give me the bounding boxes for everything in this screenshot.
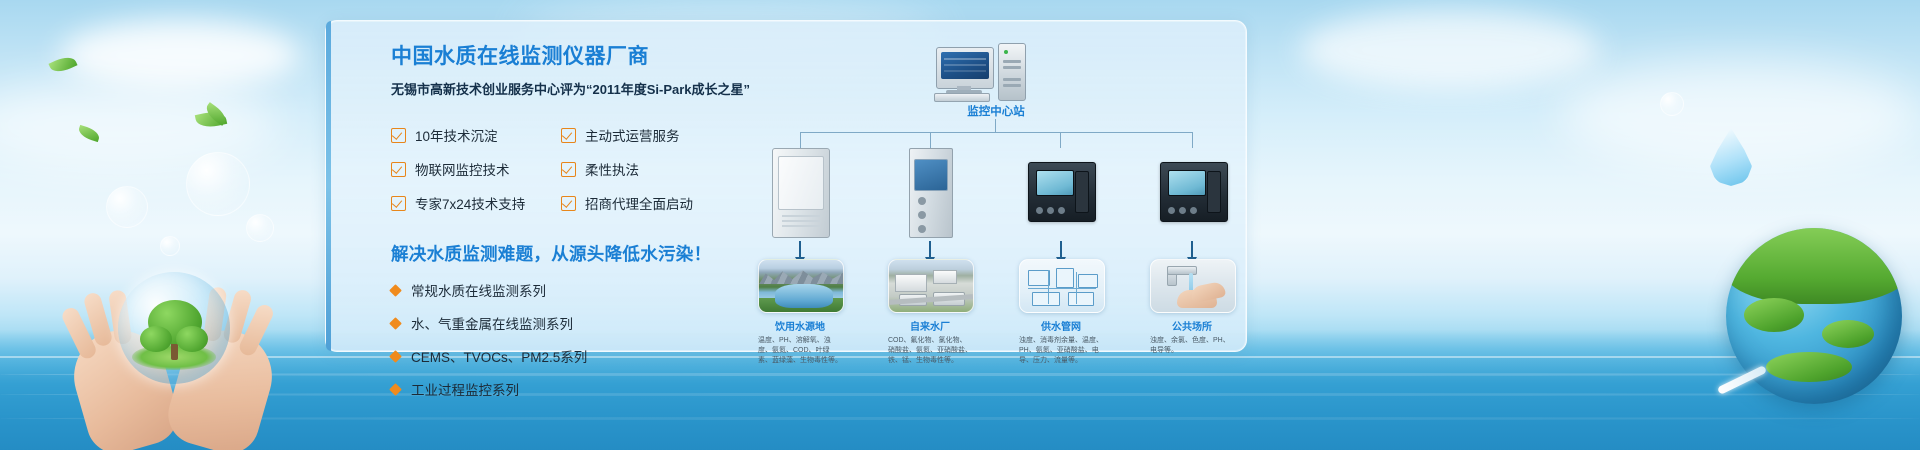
feature-label: 10年技术沉淀 bbox=[415, 125, 498, 145]
device-online-analyzer-1 bbox=[1028, 162, 1096, 222]
bubble-decor bbox=[106, 186, 148, 228]
feature-item[interactable]: 物联网监控技术 bbox=[391, 159, 561, 179]
bubble-decor bbox=[186, 152, 250, 216]
bubble-decor bbox=[246, 214, 274, 242]
scenario-photo-pipe-network bbox=[1019, 259, 1105, 313]
scenario-card[interactable]: 自来水厂 COD、氟化物、氯化物、硝酸盐、氨氮、亚硝酸盐、铁、锰、生物毒性等。 bbox=[888, 259, 972, 366]
scenario-card[interactable]: 饮用水源地 温度、PH、溶解氧、浊度、氨氮、COD、叶绿素、蓝绿藻、生物毒性等。 bbox=[758, 259, 842, 366]
checkbox-icon bbox=[561, 128, 576, 143]
connector-drop bbox=[930, 132, 931, 148]
scenario-title: 自来水厂 bbox=[888, 318, 972, 333]
bubble-decor bbox=[160, 236, 180, 256]
scenario-card[interactable]: 公共场所 浊度、余氯、色度、PH、电导等。 bbox=[1150, 259, 1234, 356]
feature-checklist: 10年技术沉淀 主动式运营服务 物联网监控技术 柔性执法 专家7x24技术支持 bbox=[391, 125, 761, 213]
page-subtitle: 无锡市高新技术创业服务中心评为“2011年度Si-Park成长之星” bbox=[391, 80, 761, 100]
bubble-decor bbox=[1660, 92, 1684, 116]
feature-label: 柔性执法 bbox=[585, 159, 639, 179]
connector-drop bbox=[1192, 132, 1193, 148]
section-headline: 解决水质监测难题，从源头降低水污染！ bbox=[391, 241, 761, 266]
wave-stripe bbox=[0, 417, 1920, 420]
scenario-title: 公共场所 bbox=[1150, 318, 1234, 333]
diamond-bullet-icon bbox=[389, 383, 402, 396]
scenario-title: 饮用水源地 bbox=[758, 318, 842, 333]
device-sampling-cabinet bbox=[909, 148, 953, 238]
series-label: 常规水质在线监测系列 bbox=[411, 280, 546, 300]
cloud-decor bbox=[0, 80, 280, 170]
device-online-analyzer-2 bbox=[1160, 162, 1228, 222]
feature-item[interactable]: 招商代理全面启动 bbox=[561, 193, 761, 213]
checkbox-icon bbox=[561, 162, 576, 177]
connector-drop bbox=[1060, 132, 1061, 148]
feature-label: 主动式运营服务 bbox=[585, 125, 680, 145]
checkbox-icon bbox=[391, 162, 406, 177]
scenario-photo-public-place bbox=[1150, 259, 1236, 313]
feature-item[interactable]: 主动式运营服务 bbox=[561, 125, 761, 145]
scenario-desc: 温度、PH、溶解氧、浊度、氨氮、COD、叶绿素、蓝绿藻、生物毒性等。 bbox=[758, 336, 842, 366]
series-label: CEMS、TVOCs、PM2.5系列 bbox=[411, 346, 587, 366]
feature-item[interactable]: 柔性执法 bbox=[561, 159, 761, 179]
monitoring-center-label: 监控中心站 bbox=[901, 103, 1091, 119]
banner-stage: 中国水质在线监测仪器厂商 无锡市高新技术创业服务中心评为“2011年度Si-Pa… bbox=[0, 0, 1920, 450]
water-globe-icon bbox=[118, 272, 230, 384]
diamond-bullet-icon bbox=[389, 317, 402, 330]
system-diagram: 监控中心站 bbox=[756, 31, 1226, 351]
connector-trunk bbox=[995, 119, 996, 133]
list-item[interactable]: CEMS、TVOCs、PM2.5系列 bbox=[391, 346, 761, 366]
connector-drop bbox=[800, 132, 801, 148]
list-item[interactable]: 水、气重金属在线监测系列 bbox=[391, 313, 761, 333]
page-title: 中国水质在线监测仪器厂商 bbox=[391, 43, 761, 71]
diamond-bullet-icon bbox=[389, 284, 402, 297]
wave-stripe bbox=[0, 393, 1920, 396]
content-panel: 中国水质在线监测仪器厂商 无锡市高新技术创业服务中心评为“2011年度Si-Pa… bbox=[325, 20, 1247, 352]
hands-tree-illustration bbox=[78, 260, 268, 450]
connector-bar bbox=[800, 132, 1192, 133]
hero-text-column: 中国水质在线监测仪器厂商 无锡市高新技术创业服务中心评为“2011年度Si-Pa… bbox=[391, 43, 761, 399]
monitoring-center-computer-icon bbox=[936, 43, 1056, 101]
device-row bbox=[756, 148, 1226, 240]
feature-item[interactable]: 10年技术沉淀 bbox=[391, 125, 561, 145]
scenario-card[interactable]: 供水管网 浊度、消毒剂余量、温度、PH、氨氮、亚硝酸盐、电导、压力、流量等。 bbox=[1019, 259, 1103, 366]
list-item[interactable]: 工业过程监控系列 bbox=[391, 379, 761, 399]
checkbox-icon bbox=[391, 196, 406, 211]
series-label: 水、气重金属在线监测系列 bbox=[411, 313, 573, 333]
feature-label: 物联网监控技术 bbox=[415, 159, 510, 179]
checkbox-icon bbox=[561, 196, 576, 211]
scenario-title: 供水管网 bbox=[1019, 318, 1103, 333]
wave-stripe bbox=[0, 373, 1920, 376]
list-item[interactable]: 常规水质在线监测系列 bbox=[391, 280, 761, 300]
diamond-bullet-icon bbox=[389, 350, 402, 363]
feature-label: 专家7x24技术支持 bbox=[415, 193, 525, 213]
series-label: 工业过程监控系列 bbox=[411, 379, 519, 399]
scenario-photo-reservoir bbox=[758, 259, 844, 313]
product-series-list: 常规水质在线监测系列 水、气重金属在线监测系列 CEMS、TVOCs、PM2.5… bbox=[391, 280, 761, 399]
scenario-desc: 浊度、余氯、色度、PH、电导等。 bbox=[1150, 336, 1234, 356]
scenario-photo-waterworks bbox=[888, 259, 974, 313]
checkbox-icon bbox=[391, 128, 406, 143]
scenario-desc: COD、氟化物、氯化物、硝酸盐、氨氮、亚硝酸盐、铁、锰、生物毒性等。 bbox=[888, 336, 972, 366]
feature-label: 招商代理全面启动 bbox=[585, 193, 693, 213]
feature-item[interactable]: 专家7x24技术支持 bbox=[391, 193, 561, 213]
cloud-decor bbox=[1300, 10, 1600, 90]
device-water-quality-cabinet bbox=[772, 148, 830, 238]
scenario-desc: 浊度、消毒剂余量、温度、PH、氨氮、亚硝酸盐、电导、压力、流量等。 bbox=[1019, 336, 1103, 366]
